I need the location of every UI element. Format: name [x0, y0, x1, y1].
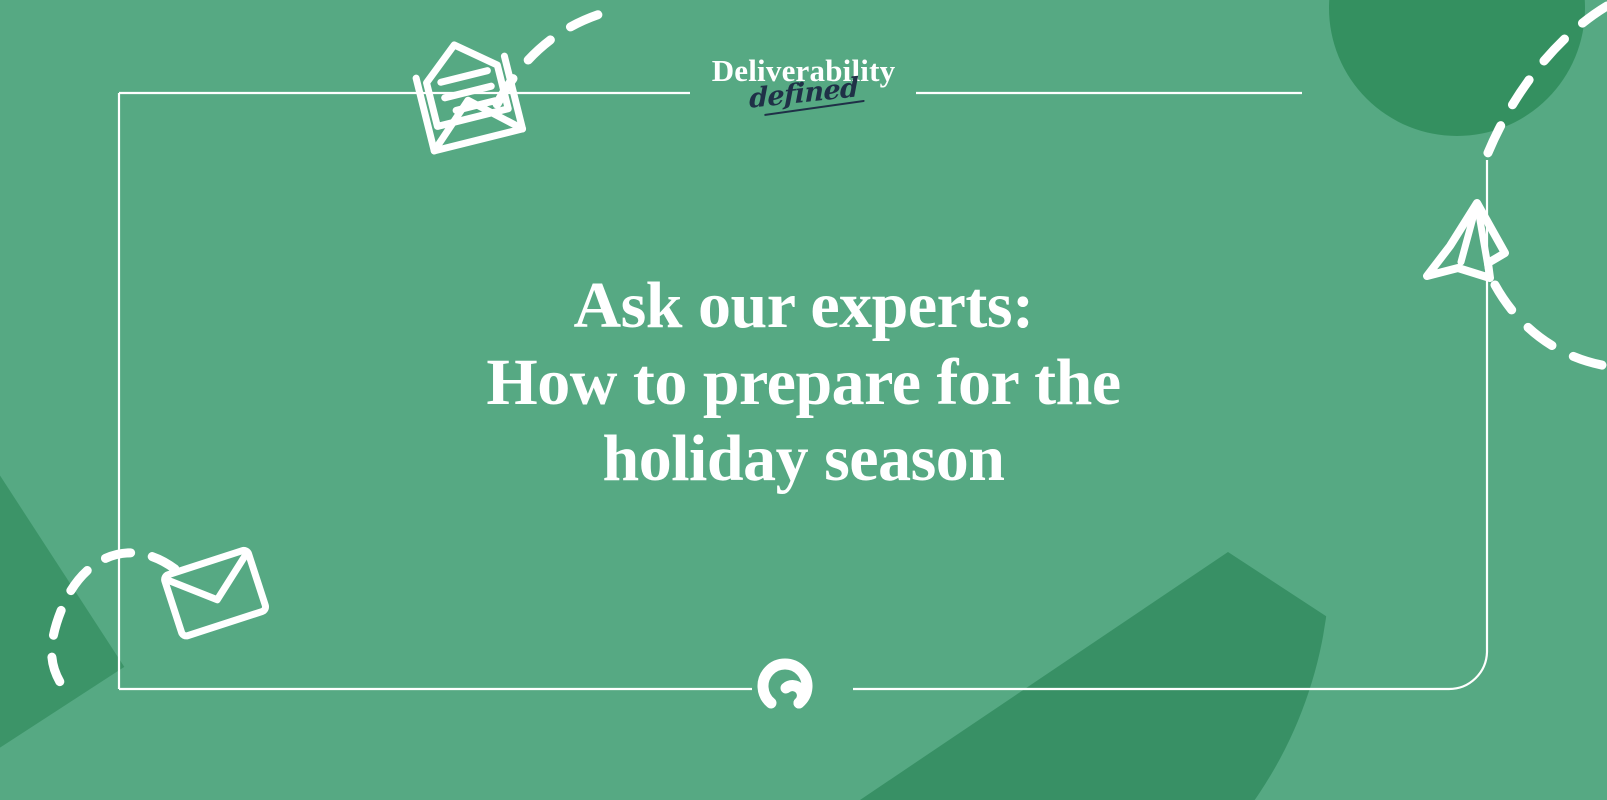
envelope-letter-line-2	[445, 86, 492, 98]
open-envelope-icon	[411, 34, 523, 151]
ring-inner-tail	[786, 686, 802, 703]
paper-plane-icon	[1427, 203, 1505, 278]
dashed-trail-right-lower	[1495, 285, 1607, 366]
dashed-trail-bottom-left	[52, 553, 175, 682]
social-card-canvas: Deliverability defined Ask our experts: …	[0, 0, 1607, 800]
envelope-letter-line-1	[441, 71, 488, 83]
closed-envelope-icon	[163, 549, 266, 637]
decorations-layer	[0, 0, 1607, 800]
closed-envelope-body	[163, 549, 266, 637]
dashed-trail-right	[1482, 6, 1607, 168]
validity-ring-icon	[763, 664, 807, 703]
